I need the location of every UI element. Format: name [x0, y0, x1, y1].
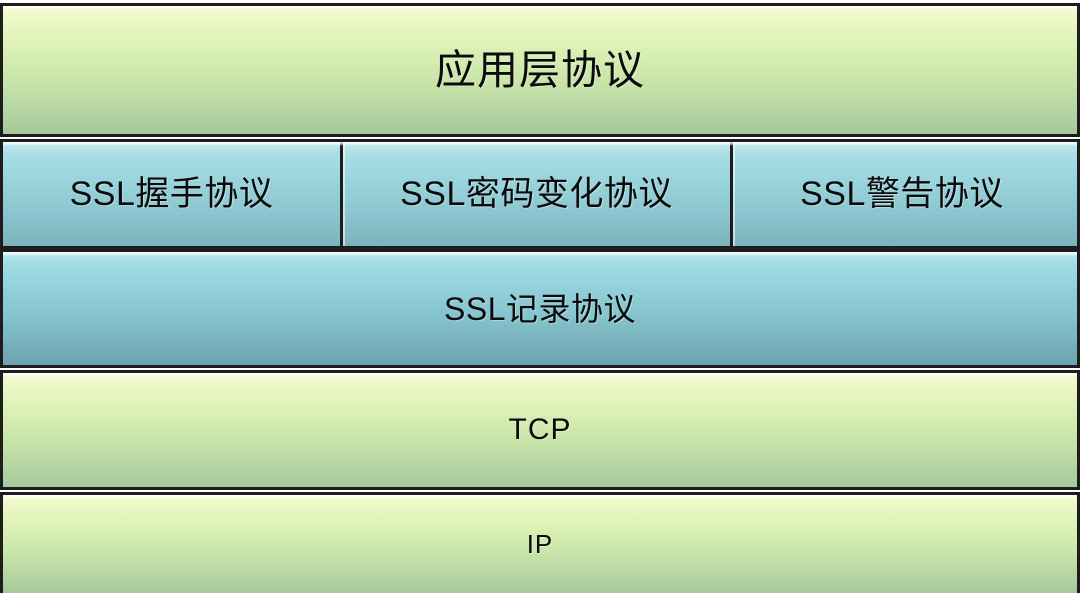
cell-ssl-record-protocol[interactable]: SSL记录协议	[3, 252, 1077, 365]
layer-ip[interactable]: IP	[0, 492, 1080, 593]
layer-application-protocol-label: 应用层协议	[435, 50, 645, 91]
layer-application-protocol[interactable]: 应用层协议	[0, 3, 1080, 137]
ssl-handshake-protocol-label: SSL握手协议	[70, 177, 274, 211]
layer-ip-label: IP	[527, 531, 554, 557]
layer-tcp[interactable]: TCP	[0, 370, 1080, 490]
layer-tcp-label: TCP	[509, 415, 572, 445]
cell-ssl-change-cipher-spec-protocol[interactable]: SSL密码变化协议	[340, 142, 730, 246]
layer-ssl-subprotocols: SSL握手协议 SSL密码变化协议 SSL警告协议	[0, 139, 1080, 249]
cell-application-protocol[interactable]: 应用层协议	[3, 6, 1077, 134]
cell-ip[interactable]: IP	[3, 495, 1077, 593]
cell-ssl-alert-protocol[interactable]: SSL警告协议	[730, 142, 1071, 246]
cell-ssl-handshake-protocol[interactable]: SSL握手协议	[3, 142, 340, 246]
layer-ssl-record-protocol[interactable]: SSL记录协议	[0, 249, 1080, 368]
ssl-alert-protocol-label: SSL警告协议	[800, 177, 1004, 211]
ssl-change-cipher-spec-protocol-label: SSL密码变化协议	[400, 177, 673, 211]
ssl-protocol-stack-diagram: 应用层协议 SSL握手协议 SSL密码变化协议 SSL警告协议 SSL记录协议 …	[0, 0, 1080, 593]
cell-tcp[interactable]: TCP	[3, 373, 1077, 487]
ssl-record-protocol-label: SSL记录协议	[444, 293, 636, 325]
